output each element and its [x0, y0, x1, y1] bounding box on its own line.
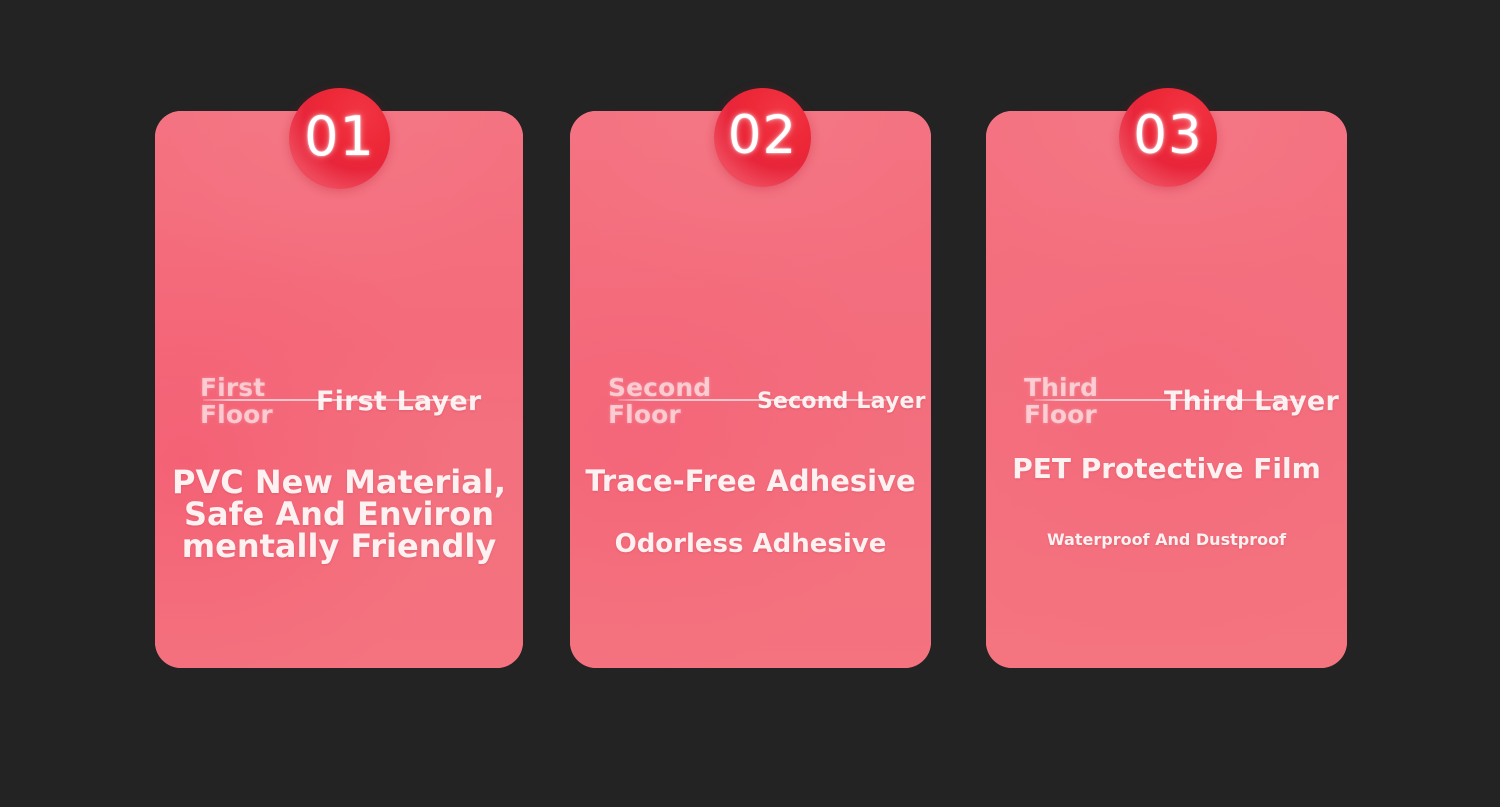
- floor-watermark-1: First Floor: [200, 374, 318, 428]
- step-badge-1: 01: [289, 88, 390, 189]
- card-body-main-2: Trace-Free Adhesive: [570, 467, 931, 496]
- floor-watermark-2: Second Floor: [608, 374, 753, 428]
- layer-card-2[interactable]: Second Floor Second Layer Trace-Free Adh…: [570, 111, 931, 668]
- card-body-sub-3: Waterproof And Dustproof: [986, 530, 1347, 549]
- card-content-2: Second Floor Second Layer Trace-Free Adh…: [570, 111, 931, 668]
- step-badge-2: 02: [714, 88, 811, 187]
- card-divider-1: [203, 399, 473, 401]
- layer-title-3: Third Layer: [1164, 386, 1339, 417]
- card-divider-3: [1034, 399, 1304, 401]
- step-number-1: 01: [304, 105, 375, 168]
- layer-title-1: First Layer: [316, 386, 481, 417]
- card-header-row-3: Third Floor Third Layer: [986, 367, 1347, 435]
- step-badge-3: 03: [1119, 88, 1217, 187]
- layer-card-1[interactable]: First Floor First Layer PVC New Material…: [155, 111, 523, 668]
- card-body-sub-2: Odorless Adhesive: [570, 529, 931, 560]
- slide-canvas: First Floor First Layer PVC New Material…: [0, 0, 1500, 807]
- layer-card-3[interactable]: Third Floor Third Layer PET Protective F…: [986, 111, 1347, 668]
- card-header-row-2: Second Floor Second Layer: [570, 367, 931, 435]
- layer-title-2: Second Layer: [757, 389, 926, 414]
- card-content-3: Third Floor Third Layer PET Protective F…: [986, 111, 1347, 668]
- card-body-main-3: PET Protective Film: [986, 455, 1347, 483]
- step-number-3: 03: [1133, 105, 1202, 166]
- card-content-1: First Floor First Layer PVC New Material…: [155, 111, 523, 668]
- card-divider-2: [618, 399, 888, 401]
- card-header-row-1: First Floor First Layer: [155, 367, 523, 435]
- floor-watermark-3: Third Floor: [1024, 374, 1142, 428]
- card-body-main-1: PVC New Material, Safe And Environ menta…: [155, 466, 523, 562]
- step-number-2: 02: [728, 105, 797, 166]
